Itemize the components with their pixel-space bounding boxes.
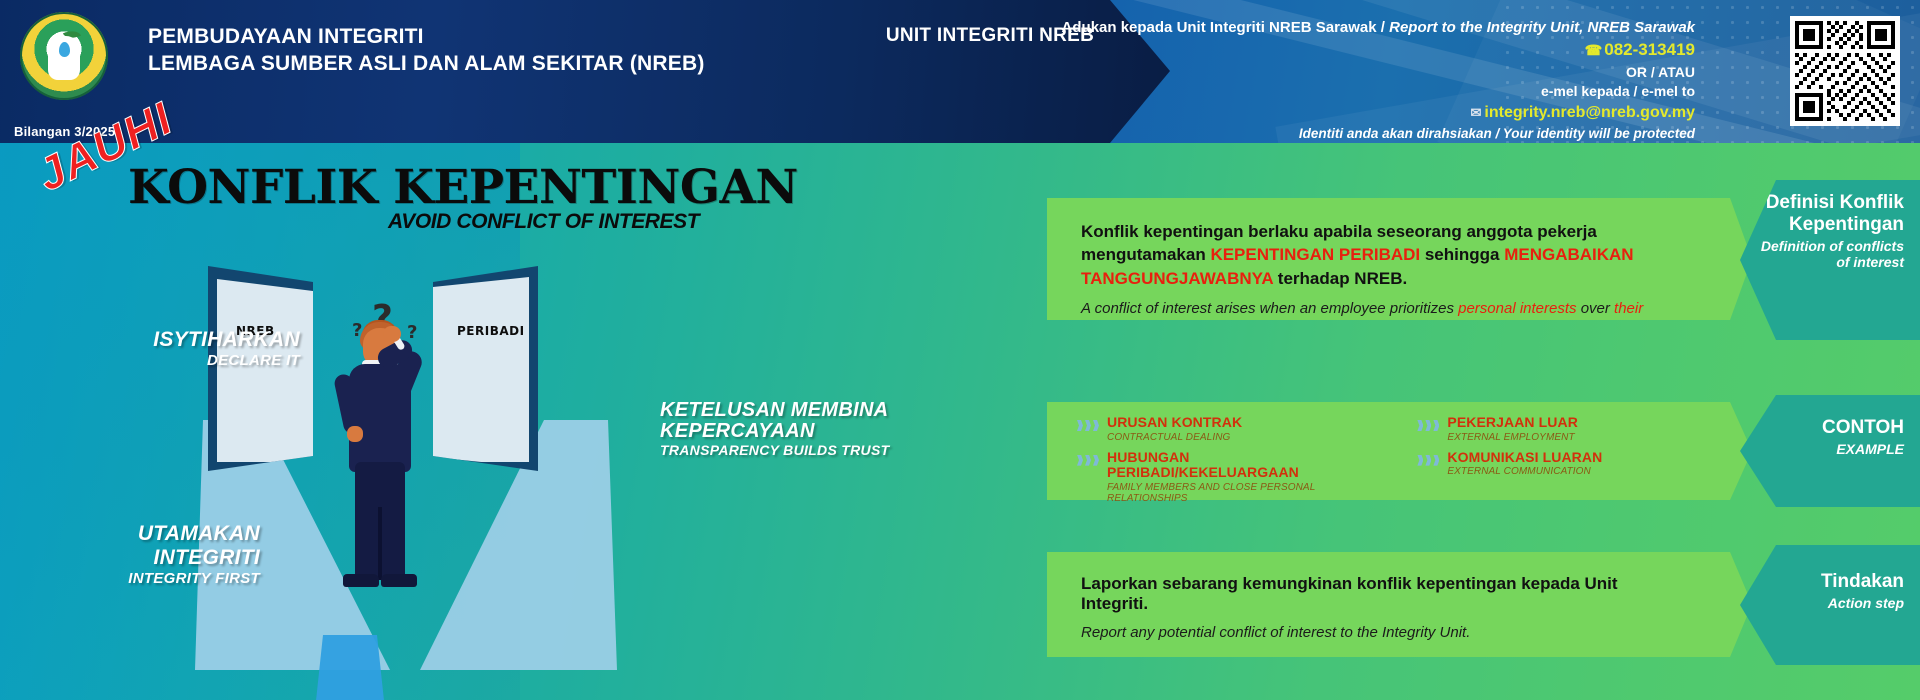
- org-line-2: LEMBAGA SUMBER ASLI DAN ALAM SEKITAR (NR…: [148, 50, 705, 77]
- infographic-poster: PEMBUDAYAAN INTEGRITI LEMBAGA SUMBER ASL…: [0, 0, 1920, 700]
- example-label-my: URUSAN KONTRAK: [1107, 415, 1242, 431]
- page-header: PEMBUDAYAAN INTEGRITI LEMBAGA SUMBER ASL…: [0, 0, 1920, 143]
- man-shoe-right: [381, 574, 417, 587]
- qr-code-image: [1795, 21, 1895, 121]
- definition-en-part2: over: [1577, 300, 1615, 317]
- action-tab-en: Action step: [1750, 595, 1904, 611]
- definition-tab-en: Definition of conflicts of interest: [1750, 238, 1904, 271]
- example-label-en: EXTERNAL EMPLOYMENT: [1447, 432, 1578, 443]
- example-label-my: HUBUNGAN PERIBADI/KEKELUARGAAN: [1107, 450, 1381, 481]
- report-line: Adukan kepada Unit Integriti NREB Sarawa…: [975, 18, 1695, 38]
- privacy-note: Identiti anda akan dirahsiakan / Your id…: [975, 125, 1695, 143]
- example-label-my: KOMUNIKASI LUARAN: [1447, 450, 1602, 466]
- definition-tab-my: Definisi Konflik Kepentingan: [1750, 192, 1904, 236]
- caption-trust-en: TRANSPARENCY BUILDS TRUST: [660, 442, 890, 458]
- example-item: URUSAN KONTRAK CONTRACTUAL DEALING: [1077, 415, 1381, 443]
- examples-column-left: URUSAN KONTRAK CONTRACTUAL DEALING HUBUN…: [1077, 415, 1381, 511]
- action-tab: Tindakan Action step: [1740, 545, 1920, 665]
- or-label: OR / ATAU: [975, 63, 1695, 82]
- definition-my-part2: sehingga: [1420, 245, 1504, 264]
- example-label-my: PEKERJAAN LUAR: [1447, 415, 1578, 431]
- caption-declare-en: DECLARE IT: [110, 352, 300, 369]
- definition-en-highlight1: personal interests: [1458, 300, 1576, 317]
- man-right-hand: [383, 326, 401, 342]
- caption-declare: ISYTIHARKAN DECLARE IT: [110, 328, 300, 369]
- examples-tab-en: EXAMPLE: [1750, 441, 1904, 457]
- org-line-1: PEMBUDAYAAN INTEGRITI: [148, 23, 705, 50]
- chevrons-icon: [1417, 420, 1439, 431]
- confused-man-illustration: [335, 302, 425, 602]
- caption-integrity-my: UTAMAKAN INTEGRITI: [30, 522, 260, 570]
- chevrons-icon: [1077, 455, 1099, 466]
- caption-integrity-first: UTAMAKAN INTEGRITI INTEGRITY FIRST: [30, 522, 260, 587]
- door-label-peribadi: PERIBADI: [457, 324, 525, 338]
- light-beam-center: [315, 635, 385, 700]
- definition-en-part1: A conflict of interest arises when an em…: [1081, 300, 1458, 317]
- example-label-en: CONTRACTUAL DEALING: [1107, 432, 1242, 443]
- logo-water-drop-icon: [59, 42, 70, 57]
- contact-block: Adukan kepada Unit Integriti NREB Sarawa…: [975, 18, 1695, 143]
- man-left-hand: [347, 426, 363, 442]
- chevrons-icon: [1417, 455, 1439, 466]
- email-label: e-mel kepada / e-mel to: [975, 82, 1695, 101]
- example-item: PEKERJAAN LUAR EXTERNAL EMPLOYMENT: [1417, 415, 1677, 443]
- hero-subtitle: AVOID CONFLICT OF INTEREST: [388, 210, 699, 234]
- door-panel: [433, 275, 529, 462]
- definition-panel: Konflik kepentingan berlaku apabila sese…: [1047, 198, 1707, 320]
- definition-tab: Definisi Konflik Kepentingan Definition …: [1740, 180, 1920, 340]
- phone-icon: ☎: [1585, 42, 1602, 58]
- action-tab-my: Tindakan: [1750, 571, 1904, 593]
- envelope-icon: ✉: [1471, 105, 1482, 120]
- report-line-separator: /: [1381, 19, 1385, 36]
- report-line-my: Adukan kepada Unit Integriti NREB Sarawa…: [1062, 19, 1377, 36]
- example-item: KOMUNIKASI LUARAN EXTERNAL COMMUNICATION: [1417, 450, 1677, 478]
- man-shoe-left: [343, 574, 379, 587]
- report-line-en: Report to the Integrity Unit, NREB Saraw…: [1389, 19, 1695, 36]
- phone-line[interactable]: ☎082-313419: [975, 39, 1695, 62]
- example-item: HUBUNGAN PERIBADI/KEKELUARGAAN FAMILY ME…: [1077, 450, 1381, 504]
- caption-integrity-en: INTEGRITY FIRST: [30, 570, 260, 587]
- definition-text-my: Konflik kepentingan berlaku apabila sese…: [1081, 220, 1673, 290]
- examples-panel: URUSAN KONTRAK CONTRACTUAL DEALING HUBUN…: [1047, 402, 1707, 500]
- examples-tab-my: CONTOH: [1750, 417, 1904, 439]
- caption-declare-my: ISYTIHARKAN: [110, 328, 300, 352]
- action-text-my: Laporkan sebarang kemungkinan konflik ke…: [1081, 574, 1673, 614]
- hero-title: KONFLIK KEPENTINGAN: [128, 160, 798, 215]
- action-text-en: Report any potential conflict of interes…: [1081, 624, 1673, 641]
- definition-my-highlight1: KEPENTINGAN PERIBADI: [1210, 245, 1420, 264]
- man-leg-split: [378, 507, 382, 580]
- door-peribadi: PERIBADI: [433, 266, 538, 471]
- examples-tab: CONTOH EXAMPLE: [1740, 395, 1920, 507]
- email-line[interactable]: ✉integrity.nreb@nreb.gov.my: [975, 102, 1695, 123]
- phone-number: 082-313419: [1604, 40, 1695, 59]
- action-panel: Laporkan sebarang kemungkinan konflik ke…: [1047, 552, 1707, 657]
- example-label-en: FAMILY MEMBERS AND CLOSE PERSONAL RELATI…: [1107, 482, 1381, 504]
- organisation-title: PEMBUDAYAAN INTEGRITI LEMBAGA SUMBER ASL…: [148, 23, 705, 78]
- email-address: integrity.nreb@nreb.gov.my: [1484, 104, 1695, 121]
- caption-transparency: KETELUSAN MEMBINA KEPERCAYAAN TRANSPAREN…: [660, 400, 890, 458]
- caption-trust-my: KETELUSAN MEMBINA KEPERCAYAAN: [660, 400, 890, 442]
- example-label-en: EXTERNAL COMMUNICATION: [1447, 466, 1602, 477]
- nreb-logo: [20, 12, 108, 100]
- qr-code[interactable]: [1790, 16, 1900, 126]
- chevrons-icon: [1077, 420, 1099, 431]
- examples-column-right: PEKERJAAN LUAR EXTERNAL EMPLOYMENT KOMUN…: [1417, 415, 1677, 511]
- definition-my-part3: terhadap NREB.: [1273, 269, 1407, 288]
